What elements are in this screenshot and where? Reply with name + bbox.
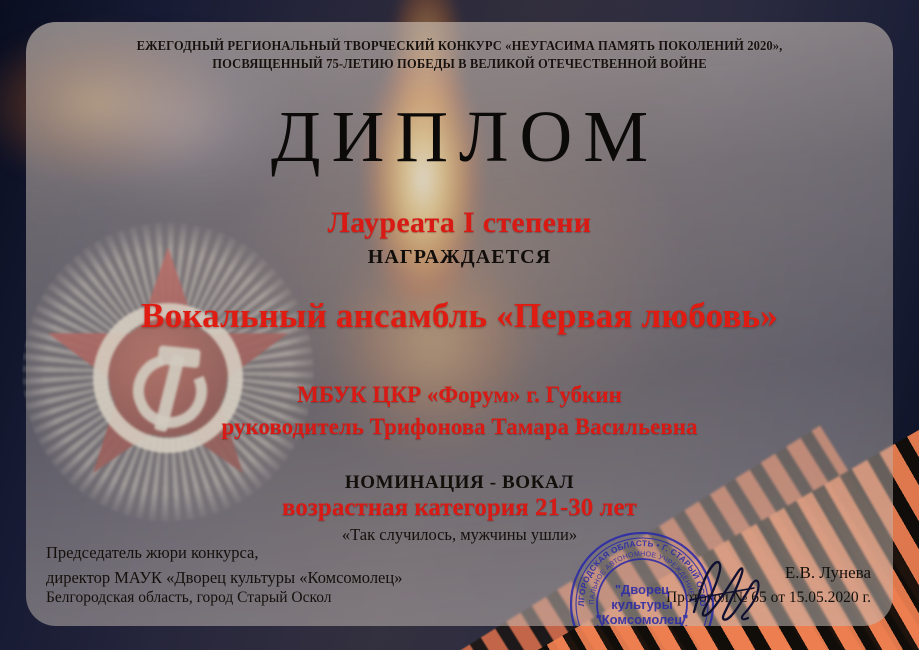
recipient-name: Вокальный ансамбль «Первая любовь» (26, 296, 893, 336)
stamp-center-line3: "Комсомолец" (596, 612, 689, 626)
award-level: Лауреата I степени (26, 206, 893, 240)
signatory-role: Председатель жюри конкурса, директор МАУ… (46, 540, 402, 590)
signatory-role-line2: директор МАУК «Дворец культуры «Комсомол… (46, 565, 402, 590)
document-panel: ЕЖЕГОДНЫЙ РЕГИОНАЛЬНЫЙ ТВОРЧЕСКИЙ КОНКУР… (26, 22, 893, 626)
signatory-name: Е.В. Лунева (785, 563, 871, 583)
organization-line2: руководитель Трифонова Тамара Васильевна (26, 411, 893, 443)
contest-header-line2: ПОСВЯЩЕННЫЙ 75-ЛЕТИЮ ПОБЕДЫ В ВЕЛИКОЙ ОТ… (52, 55, 867, 73)
stamp-center-line2: культуры (611, 597, 672, 612)
awarded-to-label: НАГРАЖДАЕТСЯ (26, 246, 893, 269)
footer-protocol: Протокол № 65 от 15.05.2020 г. (666, 589, 871, 607)
signatory-role-line1: Председатель жюри конкурса, (46, 540, 402, 565)
age-category: возрастная категория 21-30 лет (26, 494, 893, 522)
svg-text:• РОССИЯ • ИНН 3128027925 •: • РОССИЯ • ИНН 3128027925 • (593, 623, 691, 626)
diploma-certificate: ЕЖЕГОДНЫЙ РЕГИОНАЛЬНЫЙ ТВОРЧЕСКИЙ КОНКУР… (0, 0, 919, 650)
contest-header-line1: ЕЖЕГОДНЫЙ РЕГИОНАЛЬНЫЙ ТВОРЧЕСКИЙ КОНКУР… (52, 37, 867, 55)
handwritten-signature (686, 550, 806, 626)
footer-location: Белгородская область, город Старый Оскол (46, 589, 332, 607)
recipient-organization: МБУК ЦКР «Форум» г. Губкин руководитель … (26, 379, 893, 442)
contest-header: ЕЖЕГОДНЫЙ РЕГИОНАЛЬНЫЙ ТВОРЧЕСКИЙ КОНКУР… (52, 37, 867, 73)
page-title: ДИПЛОМ (26, 100, 893, 173)
stamp-outer-bottom-text: • РОССИЯ • ИНН 3128027925 • (593, 623, 691, 626)
stamp-center-line1: "Дворец (615, 582, 669, 597)
nomination-category: НОМИНАЦИЯ - ВОКАЛ (26, 472, 893, 494)
organization-line1: МБУК ЦКР «Форум» г. Губкин (26, 379, 893, 411)
